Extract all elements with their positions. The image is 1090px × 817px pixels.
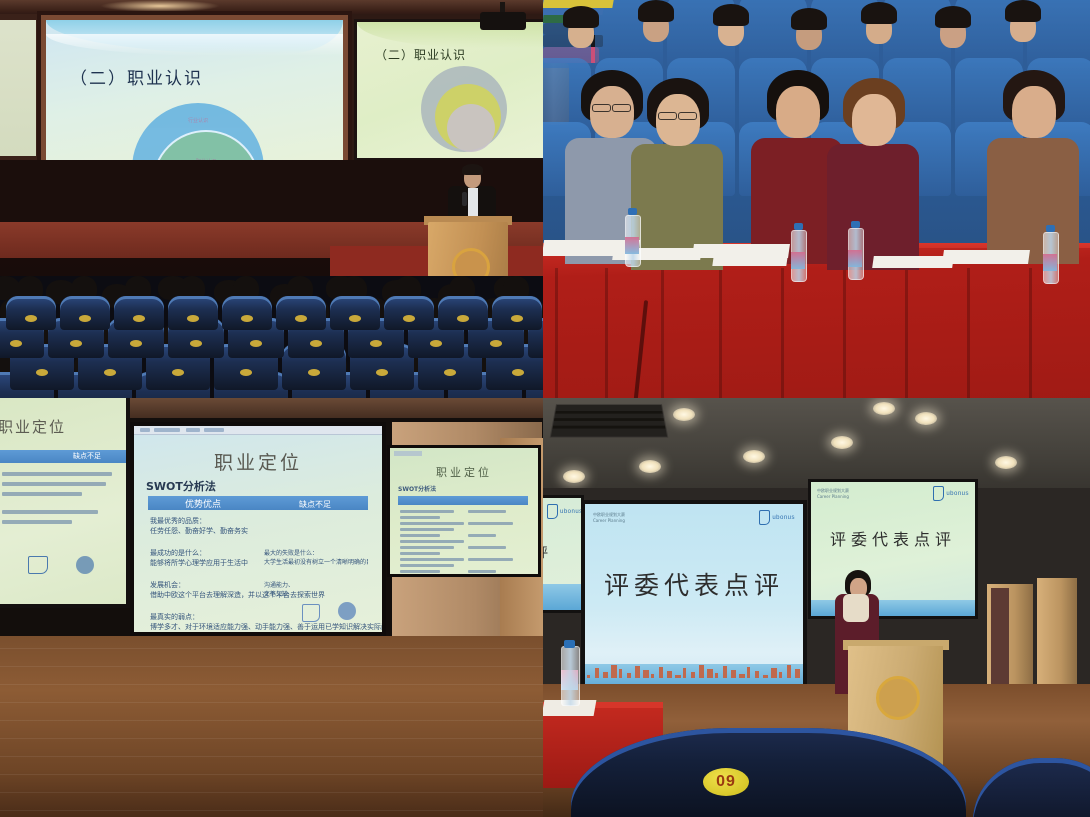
side-slide-subtitle: SWOT分析法: [398, 484, 436, 493]
bottle-label: [625, 237, 639, 254]
partial-slide-logo: ubonus: [547, 504, 581, 519]
logo-mark-icon: [547, 504, 558, 519]
swot-cell-weakness: 最大的失败是什么：: [264, 548, 368, 557]
partial-slide-title: 评: [543, 542, 548, 561]
side-table-header: [398, 496, 528, 505]
ceiling-downlight: [743, 450, 765, 463]
side-slide-title: 职业定位: [390, 464, 538, 480]
seat-number-badge: [403, 315, 415, 322]
slide-title: 职业定位: [134, 448, 382, 475]
partial-table-header-cell-2: 缺点不足: [52, 451, 122, 461]
side-table-text-line: [400, 522, 464, 525]
logo-mark-icon: [759, 510, 770, 525]
tablecloth-fold: [661, 268, 664, 398]
skyline-building: [699, 665, 704, 678]
seat-number-badge: [457, 315, 469, 322]
photo-collage: （二）职业认识 行业认识 职业认识 岗位认识 （二）职业认识: [0, 0, 1090, 817]
tablecloth-fold: [719, 268, 722, 398]
skyline-building: [739, 674, 745, 678]
side-screen-left-partial: 职业定位 缺点不足: [0, 398, 126, 604]
skyline-building: [587, 675, 590, 678]
bottle-label: [848, 250, 862, 267]
floor-plank-line: [0, 702, 543, 703]
judge-face: [1012, 86, 1056, 138]
panel-top-right: [543, 0, 1090, 398]
judge-face: [852, 94, 896, 146]
skyline-building: [787, 665, 791, 678]
ceiling-downlight: [673, 408, 695, 421]
partial-skyline: [543, 584, 581, 610]
side-slide-corner-text: 中欧职业规划大赛 Career Planning: [817, 488, 849, 500]
judge-torso: [987, 138, 1079, 264]
skyline-building: [723, 666, 727, 678]
judge-face: [776, 86, 820, 138]
audience-hair: [1005, 0, 1041, 22]
logo-text: ubonus: [946, 491, 969, 497]
panel-top-left: （二）职业认识 行业认识 职业认识 岗位认识 （二）职业认识: [0, 0, 543, 398]
judge-torso: [827, 144, 919, 270]
swot-cell-strength: 我最优秀的品质：: [150, 516, 206, 526]
toolbar-button-1[interactable]: [140, 428, 150, 432]
bottle-cap: [794, 223, 803, 230]
water-bottle: [561, 646, 580, 706]
seat-number-badge: [430, 340, 442, 347]
audience-hair: [935, 6, 971, 28]
seat-number-badge: [370, 340, 382, 347]
wooden-floor: [0, 636, 543, 817]
side-diagram-ring-inner: [447, 104, 495, 152]
tablecloth-fold: [967, 268, 970, 398]
skyline-building: [595, 668, 599, 678]
audience-hair: [563, 6, 599, 28]
ceiling-projector: [480, 12, 526, 30]
ceiling-light-glow: [100, 0, 220, 12]
skyline-building: [667, 671, 672, 678]
judge-paper: [843, 594, 869, 622]
audience-seat: [384, 296, 434, 330]
skyline-building: [731, 670, 736, 678]
seat-number-badge: [349, 315, 361, 322]
skyline-building: [619, 669, 622, 678]
audience-seat: [114, 296, 164, 330]
seat-number-badge: [511, 315, 523, 322]
table-text-line: [2, 492, 82, 496]
skyline-building: [755, 671, 759, 678]
seat-number-badge: [187, 315, 199, 322]
floor-plank-line: [0, 738, 543, 739]
audience-seat: [60, 296, 110, 330]
side-slide-title: 评委代表点评: [811, 526, 975, 550]
skyline-building: [635, 666, 640, 678]
panel-bottom-left: 职业定位 缺点不足 职业定位 SWOT分析法 优势优点 缺点不足 我最优秀的品质…: [0, 398, 543, 817]
skyline-building: [779, 672, 782, 678]
bottle-cap: [564, 640, 575, 648]
swot-cell-weakness: 沟通能力、: [264, 580, 368, 589]
side-projection-screen: （二）职业认识: [357, 22, 543, 158]
audience-seat: [6, 296, 56, 330]
seat-number-text: 09: [716, 773, 736, 791]
logo-text: ubonus: [772, 515, 795, 521]
swot-cell-strength: 博学多才、对于环境适应能力强、动手能力强、善于运用已学知识解决实际问题: [150, 622, 382, 632]
skyline-building: [651, 674, 654, 678]
side-table-text-line: [468, 522, 513, 525]
eyeglasses: [612, 104, 631, 112]
floor-plank-line: [0, 648, 543, 649]
main-projection-screen: 职业定位 SWOT分析法 优势优点 缺点不足 我最优秀的品质：任劳任怨、勤奋好学…: [134, 426, 382, 632]
toolbar-button-2[interactable]: [154, 428, 180, 432]
side-table-text-line: [468, 558, 513, 561]
side-table-text-line: [468, 546, 506, 549]
document-paper: [942, 250, 1030, 264]
side-table-text-line: [400, 528, 454, 531]
side-table-text-line: [400, 510, 454, 513]
logo-mark-icon: [933, 486, 944, 501]
skyline-building: [627, 673, 631, 678]
audience-hair: [791, 8, 827, 30]
audience-hair: [861, 2, 897, 24]
tablecloth-fold: [605, 268, 608, 398]
tablecloth-fold: [1029, 268, 1032, 398]
seat-number-badge: [133, 315, 145, 322]
speaker-hair: [462, 164, 483, 175]
side-table-text-line: [400, 558, 464, 561]
side-screen-left-partial: [0, 20, 36, 156]
skyline-building: [643, 670, 649, 678]
skyline-building: [675, 675, 681, 678]
tablecloth-fold: [555, 268, 558, 398]
audience-seat: [222, 296, 272, 330]
partial-logo-circle: [76, 556, 94, 574]
skyline-building: [763, 675, 768, 678]
tablecloth-fold: [905, 268, 908, 398]
bottle-cap: [851, 221, 860, 228]
tablecloth-fold: [781, 268, 784, 398]
skyline-building: [715, 673, 718, 678]
audience-seat: [276, 296, 326, 330]
eyeglasses: [678, 112, 697, 120]
swot-cell-strength: 最真实的弱点：: [150, 612, 199, 622]
slide-swoosh-highlight: [46, 34, 343, 56]
side-table-text-line: [400, 546, 454, 549]
bottle-label: [1043, 254, 1057, 271]
swot-cell-strength: 最成功的是什么：: [150, 548, 206, 558]
audience-seat: [492, 296, 542, 330]
audience-seat: [168, 296, 218, 330]
floor-plank-line: [0, 792, 543, 793]
ceiling-downlight: [563, 470, 585, 483]
side-table-text-line: [400, 552, 440, 555]
floor-plank-line: [0, 684, 543, 685]
ceiling-downlight: [995, 456, 1017, 469]
side-table-text-line: [468, 510, 506, 513]
judge-face: [656, 94, 700, 146]
skyline-building: [707, 669, 713, 678]
air-vent: [550, 404, 669, 437]
seat-number-badge: [190, 340, 202, 347]
bottle-cap: [1046, 225, 1055, 232]
slide-subtitle: SWOT分析法: [146, 478, 216, 494]
skyline-building: [795, 669, 800, 678]
side-table-text-line: [400, 534, 440, 537]
audience-seat: [330, 296, 380, 330]
toolbar-button-3[interactable]: [186, 428, 200, 432]
swot-cell-weakness: 文笔欠缺: [264, 589, 368, 598]
seat-number-badge: [250, 340, 262, 347]
swot-cell-strength: 发展机会：: [150, 580, 185, 590]
slide-logo-mark: [302, 604, 320, 622]
floor-plank-line: [0, 720, 543, 721]
swot-cell-strength: 任劳任怨、勤奋好学、勤奋务实: [150, 526, 248, 536]
floor-plank-line: [0, 774, 543, 775]
skyline-building: [659, 667, 663, 678]
slide-corner-text: 中欧职业规划大赛 Career Planning: [593, 512, 625, 524]
ceiling-downlight: [831, 436, 853, 449]
side-table-text-line: [400, 540, 464, 543]
side-table-text-line: [468, 534, 496, 537]
audience-hair: [713, 4, 749, 26]
seat-number-badge: [25, 315, 37, 322]
eyeglasses: [592, 104, 611, 112]
panel-bottom-right: 评 ubonus 中欧职业规划大赛 Career Planning ubonus…: [543, 398, 1090, 817]
floor-plank-line: [0, 810, 543, 811]
partial-logo-mark: [28, 556, 48, 574]
seat-number-badge: [310, 340, 322, 347]
slide-title: （二）职业认识: [70, 64, 203, 89]
seat-number-badge: [130, 340, 142, 347]
skyline-building: [611, 665, 617, 678]
slide-logo-circle: [338, 602, 356, 620]
ceiling-downlight: [915, 412, 937, 425]
seat-number-badge: [10, 340, 22, 347]
bottle-label: [791, 252, 805, 269]
red-draped-table: [543, 248, 1090, 398]
bottle-cap: [628, 208, 637, 215]
side-projection-screen: 职业定位 SWOT分析法: [390, 448, 538, 574]
tablecloth-fold: [843, 268, 846, 398]
ceiling-downlight: [873, 402, 895, 415]
floor-plank-line: [0, 666, 543, 667]
table-text-line: [2, 482, 106, 486]
floor-plank-line: [0, 756, 543, 757]
side-toolbar: [394, 451, 422, 456]
skyline-building: [683, 668, 686, 678]
slide-title: 评委代表点评: [585, 566, 803, 602]
side-projection-screen: 中欧职业规划大赛 Career Planning ubonus 评委代表点评: [811, 482, 975, 616]
skyline-building: [691, 672, 695, 678]
swot-header-strengths: 优势优点: [148, 497, 258, 510]
side-slide-title: （二）职业认识: [375, 46, 466, 63]
side-table-text-line: [468, 570, 496, 573]
judge-face: [590, 86, 634, 138]
side-table-text-line: [400, 516, 440, 519]
slide-logo: ubonus: [759, 510, 795, 525]
logo-text: ubonus: [560, 509, 581, 515]
side-table-text-line: [400, 570, 440, 573]
skyline-building: [747, 667, 750, 678]
speaker-shirt: [468, 188, 478, 216]
swot-cell-strength: 能够将所学心理学应用于生活中: [150, 558, 248, 568]
swot-cell-weakness: 大学生活最初没有树立一个清晰明确的目标: [264, 557, 368, 566]
seat-number-badge: [490, 340, 502, 347]
toolbar-button-4[interactable]: [204, 428, 224, 432]
skyline-building: [603, 672, 608, 678]
table-text-line: [2, 472, 112, 476]
audience-hair: [638, 0, 674, 22]
side-slide-logo: ubonus: [933, 486, 969, 501]
document-paper: [712, 256, 787, 266]
side-screen-left-partial: 评 ubonus: [543, 498, 581, 610]
podium-emblem: [876, 676, 920, 720]
skyline-building: [771, 668, 777, 678]
table-text-line: [2, 520, 72, 524]
ceiling-downlight: [639, 460, 661, 473]
eyeglasses: [658, 112, 677, 120]
partial-slide-title: 职业定位: [0, 416, 66, 437]
audience-seat: [438, 296, 488, 330]
side-table-text-line: [400, 564, 454, 567]
handheld-microphone: [462, 192, 467, 206]
seat-number-badge: [241, 315, 253, 322]
main-projection-screen: 中欧职业规划大赛 Career Planning ubonus 评委代表点评: [585, 504, 803, 690]
seat-number-badge: [70, 340, 82, 347]
diagram-ring-outer-label: 行业认识: [132, 117, 264, 124]
swot-header-weaknesses: 缺点不足: [262, 499, 368, 510]
seat-number-badge: [79, 315, 91, 322]
seat-number-badge: 09: [703, 768, 749, 796]
powerpoint-toolbar: [134, 426, 382, 435]
seat-number-badge: [295, 315, 307, 322]
table-text-line: [2, 510, 98, 514]
